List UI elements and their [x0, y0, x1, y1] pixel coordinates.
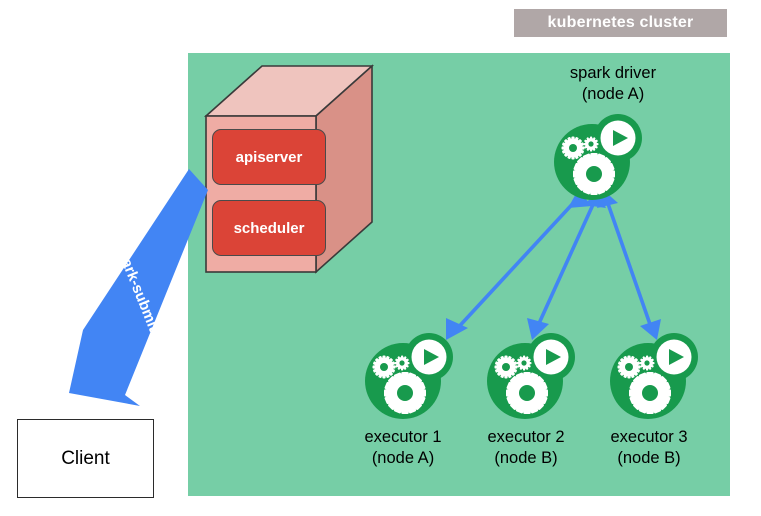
spark-driver-icon [554, 114, 642, 200]
executor-1-icon [365, 333, 453, 419]
link-driver-executor-1 [446, 190, 592, 340]
executor-3-icon [610, 333, 698, 419]
component-apiserver: apiserver [212, 129, 326, 185]
spark-driver-label: spark driver (node A) [533, 63, 693, 105]
executor-2-label: executor 2 (node B) [466, 427, 586, 469]
executor-3-label: executor 3 (node B) [589, 427, 709, 469]
executor-1-label: executor 1 (node A) [343, 427, 463, 469]
diagram-canvas: kubernetes cluster Client [0, 0, 761, 516]
component-scheduler: scheduler [212, 200, 326, 256]
driver-executor-links [446, 189, 661, 340]
component-scheduler-label: scheduler [234, 220, 305, 237]
link-driver-executor-3 [597, 189, 661, 340]
component-apiserver-label: apiserver [236, 149, 303, 166]
executor-2-icon [487, 333, 575, 419]
